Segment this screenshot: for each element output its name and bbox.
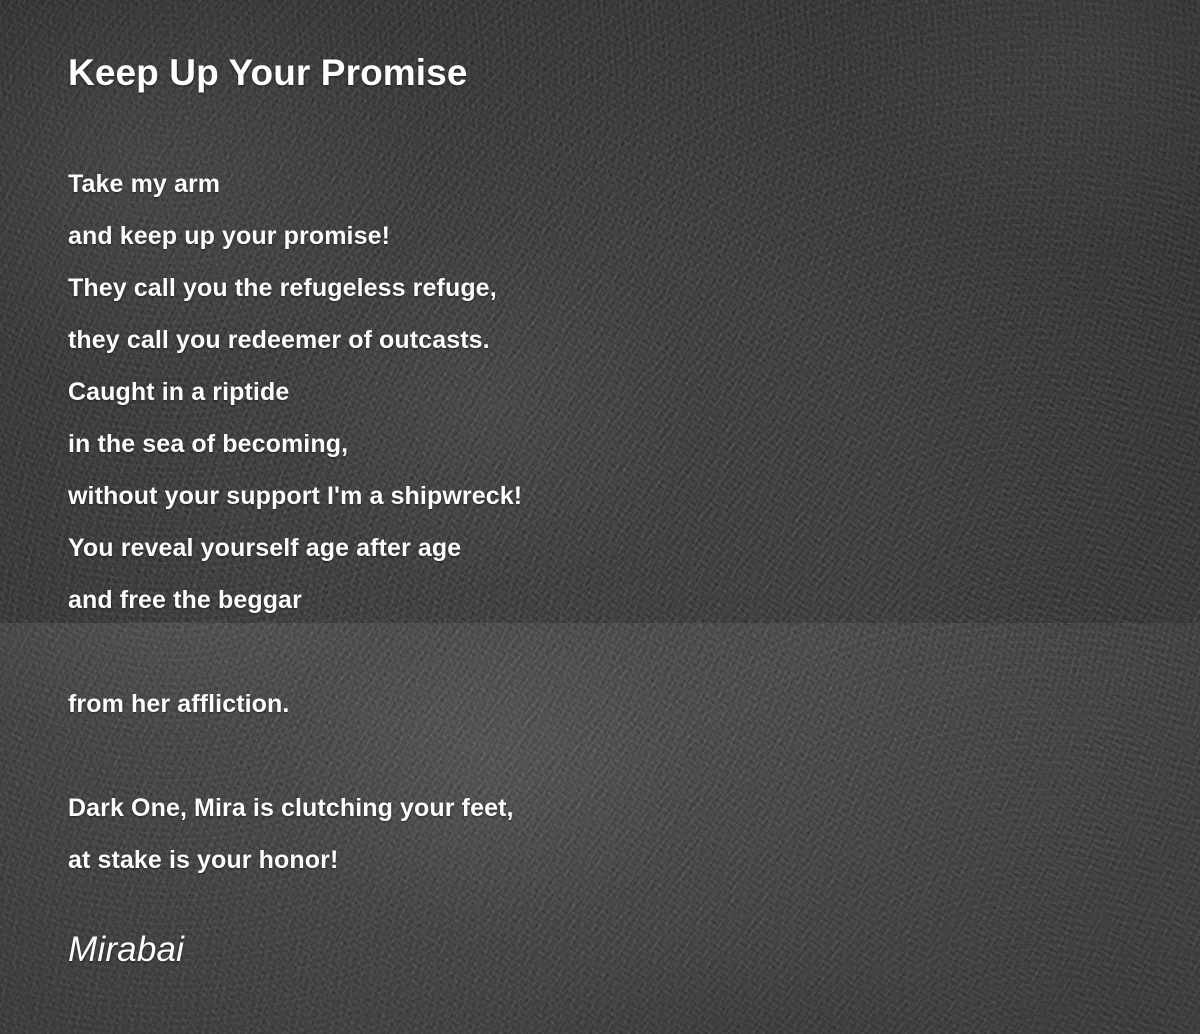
poem-content: Keep Up Your Promise Take my armand keep… [0, 0, 1200, 1034]
poem-line: They call you the refugeless refuge, [68, 262, 1068, 314]
poem-line: Take my arm [68, 158, 1068, 210]
poem-line: from her affliction. [68, 678, 1068, 730]
poem-image-canvas: Keep Up Your Promise Take my armand keep… [0, 0, 1200, 1034]
poem-line: Caught in a riptide [68, 366, 1068, 418]
poem-line: in the sea of becoming, [68, 418, 1068, 470]
poem-line: You reveal yourself age after age [68, 522, 1068, 574]
poem-author-signature: Mirabai [68, 930, 184, 970]
poem-line: Dark One, Mira is clutching your feet, [68, 782, 1068, 834]
poem-line: and free the beggar [68, 574, 1068, 626]
page-title: Keep Up Your Promise [68, 52, 468, 94]
poem-line: they call you redeemer of outcasts. [68, 314, 1068, 366]
poem-line: without your support I'm a shipwreck! [68, 470, 1068, 522]
poem-line: at stake is your honor! [68, 834, 1068, 886]
poem-body: Take my armand keep up your promise!They… [68, 158, 1068, 886]
poem-line-blank [68, 730, 1068, 782]
poem-line: and keep up your promise! [68, 210, 1068, 262]
poem-line-blank [68, 626, 1068, 678]
